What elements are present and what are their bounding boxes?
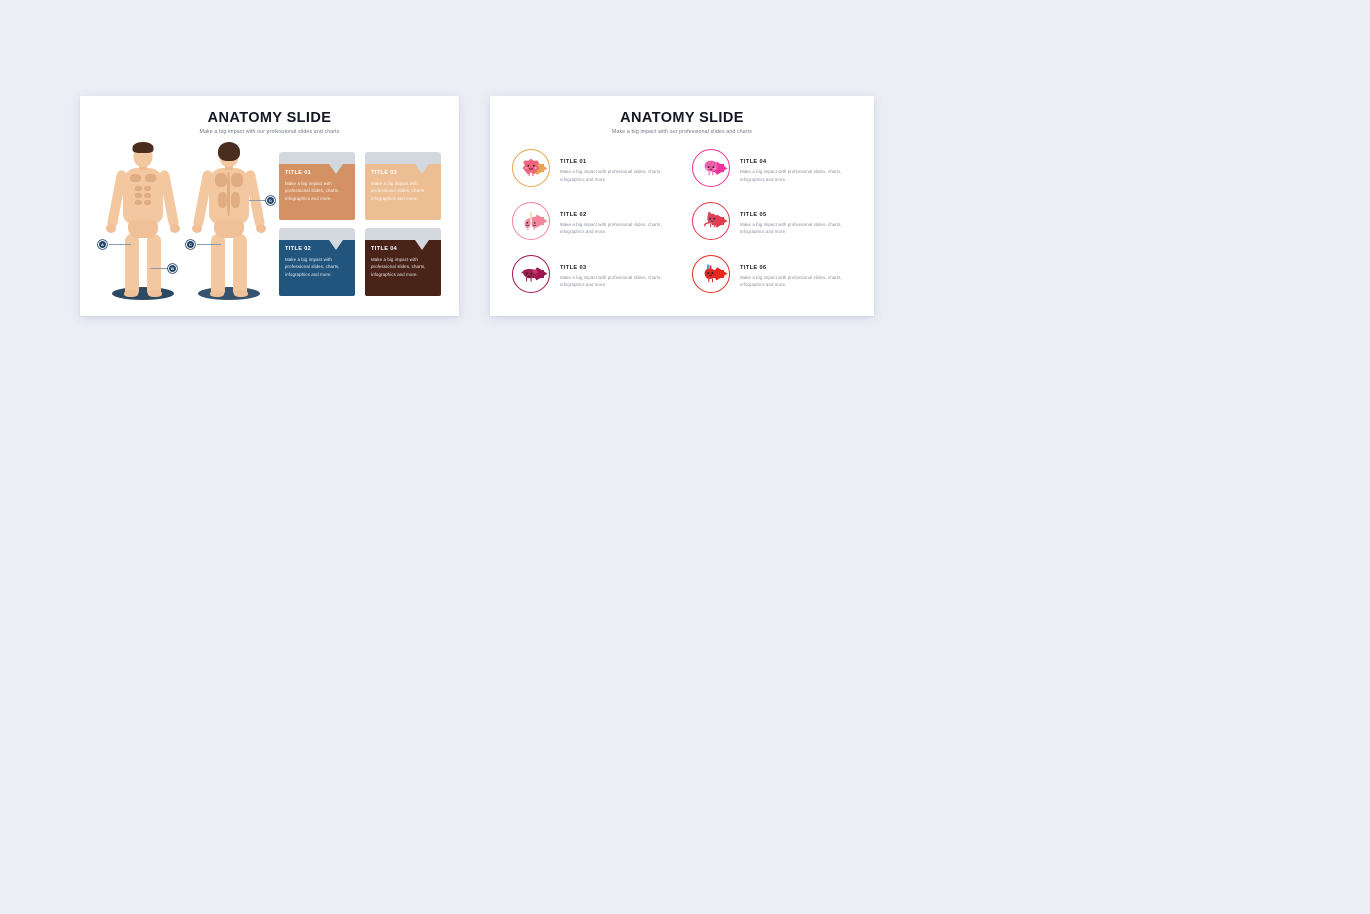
hair-front: [133, 142, 154, 153]
page-subtitle: Make a big impact with our professional …: [490, 129, 874, 135]
pelvis-back: [214, 220, 244, 238]
figure-base-ellipse: [112, 287, 174, 300]
row-description: Make a big impact with professional slid…: [560, 221, 672, 236]
card-text: Make a big impact with professional slid…: [285, 256, 349, 278]
row-badge[interactable]: [510, 253, 556, 299]
organ-row-title-04[interactable]: TITLE 04 Make a big impact with professi…: [690, 144, 854, 197]
torso-back: [209, 168, 249, 224]
row-text: TITLE 02 Make a big impact with professi…: [560, 210, 672, 236]
card-body: TITLE 01 Make a big impact with professi…: [279, 164, 355, 220]
card-text: Make a big impact with professional slid…: [371, 256, 435, 278]
page-title: ANATOMY SLIDE: [80, 110, 459, 126]
row-text: TITLE 06 Make a big impact with professi…: [740, 263, 852, 289]
row-badge[interactable]: [690, 253, 736, 299]
left-foot-back: [210, 290, 224, 297]
male-body-back-illustration[interactable]: [186, 140, 272, 300]
info-card-title-03[interactable]: TITLE 03 Make a big impact with professi…: [365, 152, 441, 220]
row-title: TITLE 02: [560, 212, 672, 218]
row-text: TITLE 01 Make a big impact with professi…: [560, 157, 672, 183]
anatomy-slide-body-views[interactable]: ANATOMY SLIDE Make a big impact with our…: [80, 96, 459, 316]
left-foot: [124, 290, 138, 297]
marker-b[interactable]: B: [168, 264, 177, 273]
right-leg: [147, 234, 161, 296]
card-text: Make a big impact with professional slid…: [371, 180, 435, 202]
organ-rows-grid: TITLE 01 Make a big impact with professi…: [510, 144, 854, 302]
lat-left: [215, 173, 227, 187]
pelvis-front: [128, 220, 158, 238]
hair-back: [218, 142, 240, 161]
card-title: TITLE 03: [371, 170, 435, 176]
card-body: TITLE 03 Make a big impact with professi…: [365, 164, 441, 220]
card-title: TITLE 04: [371, 246, 435, 252]
right-hand: [170, 224, 180, 233]
row-description: Make a big impact with professional slid…: [740, 168, 852, 183]
organ-row-title-02[interactable]: TITLE 02 Make a big impact with professi…: [510, 197, 674, 250]
anatomy-slide-organ-list[interactable]: ANATOMY SLIDE Make a big impact with our…: [490, 96, 874, 316]
row-text: TITLE 04 Make a big impact with professi…: [740, 157, 852, 183]
organ-row-title-03[interactable]: TITLE 03 Make a big impact with professi…: [510, 249, 674, 302]
liver-icon: [520, 263, 542, 285]
abs-3: [135, 193, 142, 198]
right-leg-back: [233, 234, 247, 296]
male-body-front-illustration[interactable]: [100, 140, 186, 300]
anatomy-figures-group: A B C D: [94, 140, 276, 300]
row-description: Make a big impact with professional slid…: [740, 274, 852, 289]
abs-5: [135, 200, 142, 205]
marker-d[interactable]: D: [266, 196, 275, 205]
row-description: Make a big impact with professional slid…: [560, 168, 672, 183]
marker-c[interactable]: C: [186, 240, 195, 249]
card-body: TITLE 02 Make a big impact with professi…: [279, 240, 355, 296]
abs-1: [135, 186, 142, 191]
intestine-icon: [520, 157, 542, 179]
row-text: TITLE 03 Make a big impact with professi…: [560, 263, 672, 289]
stomach-icon: [700, 210, 722, 232]
organ-row-title-06[interactable]: TITLE 06 Make a big impact with professi…: [690, 249, 854, 302]
abs-6: [144, 200, 151, 205]
right-hand-back: [256, 224, 266, 233]
marker-a[interactable]: A: [98, 240, 107, 249]
row-title: TITLE 06: [740, 265, 852, 271]
lat-right: [231, 173, 243, 187]
row-badge[interactable]: [690, 147, 736, 193]
page-title: ANATOMY SLIDE: [490, 110, 874, 126]
row-title: TITLE 03: [560, 265, 672, 271]
abs-2: [144, 186, 151, 191]
row-title: TITLE 04: [740, 159, 852, 165]
torso-front: [123, 168, 163, 224]
page-canvas: ANATOMY SLIDE Make a big impact with our…: [0, 0, 1370, 914]
card-title: TITLE 02: [285, 246, 349, 252]
lower-back-left: [218, 192, 227, 208]
row-badge[interactable]: [690, 200, 736, 246]
heart-icon: [700, 263, 722, 285]
row-badge[interactable]: [510, 147, 556, 193]
leader-line-a: [109, 244, 131, 245]
organ-row-title-05[interactable]: TITLE 05 Make a big impact with professi…: [690, 197, 854, 250]
card-body: TITLE 04 Make a big impact with professi…: [365, 240, 441, 296]
left-hand-back: [192, 224, 202, 233]
organ-row-title-01[interactable]: TITLE 01 Make a big impact with professi…: [510, 144, 674, 197]
card-title: TITLE 01: [285, 170, 349, 176]
info-card-title-04[interactable]: TITLE 04 Make a big impact with professi…: [365, 228, 441, 296]
anatomy-info-cards: TITLE 01 Make a big impact with professi…: [279, 152, 445, 300]
row-text: TITLE 05 Make a big impact with professi…: [740, 210, 852, 236]
row-title: TITLE 01: [560, 159, 672, 165]
lower-back-right: [231, 192, 240, 208]
info-card-title-02[interactable]: TITLE 02 Make a big impact with professi…: [279, 228, 355, 296]
slide-right-header: ANATOMY SLIDE Make a big impact with our…: [490, 96, 874, 135]
row-title: TITLE 05: [740, 212, 852, 218]
row-description: Make a big impact with professional slid…: [560, 274, 672, 289]
abs-4: [144, 193, 151, 198]
slide-left-header: ANATOMY SLIDE Make a big impact with our…: [80, 96, 459, 135]
card-text: Make a big impact with professional slid…: [285, 180, 349, 202]
leader-line-c: [197, 244, 221, 245]
lungs-icon: [520, 210, 542, 232]
brain-icon: [700, 157, 722, 179]
row-description: Make a big impact with professional slid…: [740, 221, 852, 236]
left-hand: [106, 224, 116, 233]
row-badge[interactable]: [510, 200, 556, 246]
pectoral-right: [145, 174, 156, 182]
right-foot: [148, 290, 162, 297]
page-subtitle: Make a big impact with our professional …: [80, 129, 459, 135]
figure-base-ellipse-back: [198, 287, 260, 300]
right-foot-back: [234, 290, 248, 297]
spine-line: [227, 172, 230, 216]
info-card-title-01[interactable]: TITLE 01 Make a big impact with professi…: [279, 152, 355, 220]
pectoral-left: [130, 174, 141, 182]
